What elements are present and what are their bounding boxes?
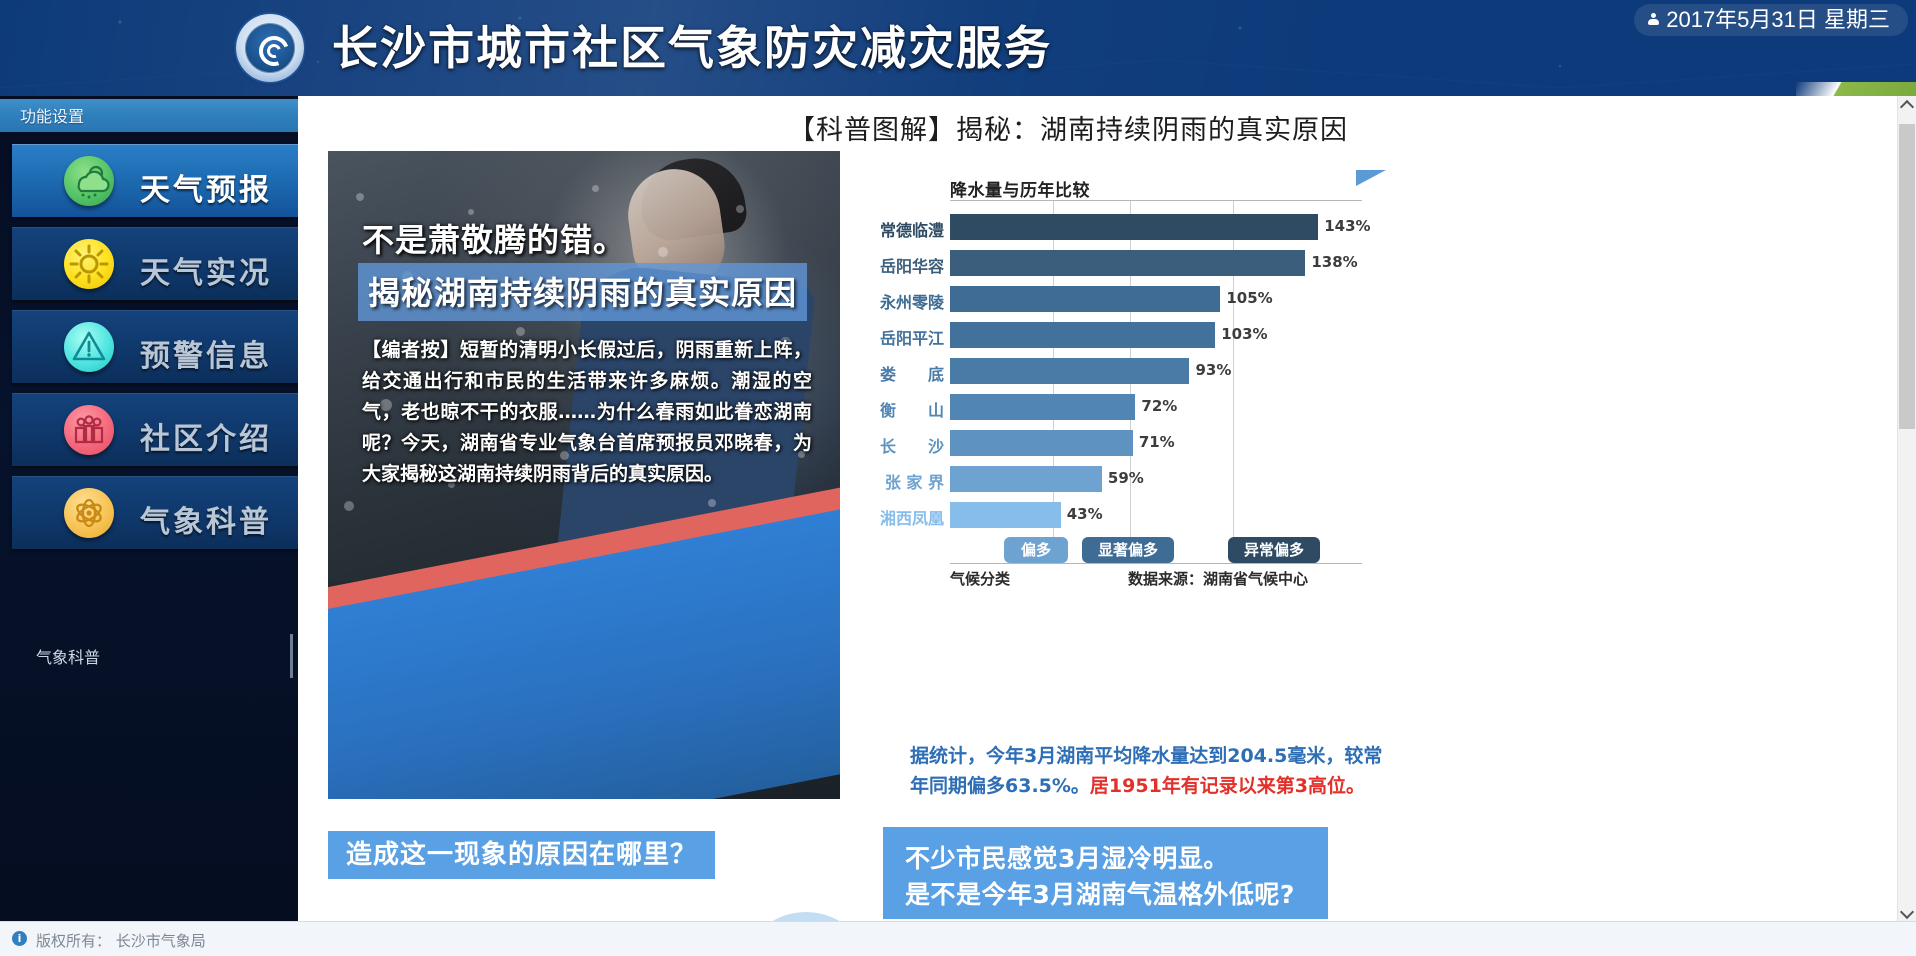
cloud-rain-icon xyxy=(64,156,114,206)
chart-legend-pill: 异常偏多 xyxy=(1228,537,1320,563)
chart-bar xyxy=(950,394,1135,420)
sidebar: 功能设置 天气预报 xyxy=(0,96,298,922)
chart-bar xyxy=(950,214,1318,240)
vertical-scrollbar[interactable] xyxy=(1897,96,1916,922)
app-header: 长沙市城市社区气象防灾减灾服务 2017年5月31日 星期三 xyxy=(0,0,1916,96)
copyright-text: 版权所有： 长沙市气象局 xyxy=(36,930,206,951)
chart-bar xyxy=(950,430,1133,456)
content-area: 【科普图解】揭秘：湖南持续阴雨的真实原因 xyxy=(298,96,1898,922)
chart-bar xyxy=(950,358,1189,384)
chart-bar-row: 长 沙71% xyxy=(950,425,1362,461)
sidebar-nav: 天气预报 天气实况 xyxy=(12,144,298,559)
chart-category-label: 岳阳华容 xyxy=(858,253,944,277)
poster-headline-2: 揭秘湖南持续阴雨的真实原因 xyxy=(358,263,807,321)
chart-bar-row: 常德临澧143% xyxy=(950,209,1362,245)
warning-triangle-icon xyxy=(64,322,114,372)
chart-category-label: 张 家 界 xyxy=(858,469,944,493)
chart-bar xyxy=(950,502,1061,528)
chart-value-label: 59% xyxy=(1108,469,1144,487)
sidebar-item-community-intro[interactable]: 社区介绍 xyxy=(12,393,298,466)
chart-source: 数据来源：湖南省气候中心 xyxy=(1128,568,1308,589)
logo-inner-disc xyxy=(245,23,295,73)
sidebar-scroll-indicator[interactable] xyxy=(290,634,293,678)
chart-bar-row: 衡 山72% xyxy=(950,389,1362,425)
application-window: 长沙市城市社区气象防灾减灾服务 2017年5月31日 星期三 功能设置 xyxy=(0,0,1916,956)
chart-plot-area: 常德临澧143%岳阳华容138%永州零陵105%岳阳平江103%娄 底93%衡 … xyxy=(950,200,1362,564)
chart-category-label: 长 沙 xyxy=(858,433,944,457)
chart-value-label: 138% xyxy=(1311,253,1357,271)
sidebar-item-weather-live[interactable]: 天气实况 xyxy=(12,227,298,300)
chart-value-label: 103% xyxy=(1221,325,1267,343)
section-heading-right: 不少市民感觉3月湿冷明显。 是不是今年3月湖南气温格外低呢? xyxy=(883,827,1328,919)
poster-headline-1: 不是萧敬腾的错。 xyxy=(362,215,626,261)
date-display: 2017年5月31日 星期三 xyxy=(1634,4,1908,36)
chart-bar-row: 岳阳华容138% xyxy=(950,245,1362,281)
chart-category-label: 湘西凤凰 xyxy=(858,505,944,529)
chart-category-label: 永州零陵 xyxy=(858,289,944,313)
people-group-icon xyxy=(64,405,114,455)
sidebar-item-label: 气象科普 xyxy=(140,497,272,541)
article-title: 【科普图解】揭秘：湖南持续阴雨的真实原因 xyxy=(298,108,1838,147)
scroll-down-button[interactable] xyxy=(1898,904,1916,922)
sidebar-item-label: 天气实况 xyxy=(140,248,272,292)
sidebar-item-warning-info[interactable]: 预警信息 xyxy=(12,310,298,383)
chart-value-label: 71% xyxy=(1139,433,1175,451)
chart-category-label: 常德临澧 xyxy=(858,217,944,241)
section-heading-right-line1: 不少市民感觉3月湿冷明显。 xyxy=(905,841,1328,877)
poster-lead-paragraph: 【编者按】短暂的清明小长假过后，阴雨重新上阵，给交通出行和市民的生活带来许多麻烦… xyxy=(362,335,812,490)
scroll-up-button[interactable] xyxy=(1898,96,1916,114)
chart-bar-row: 湘西凤凰43% xyxy=(950,497,1362,533)
section-heading-left: 造成这一现象的原因在哪里？ xyxy=(328,831,715,879)
article-poster: 不是萧敬腾的错。 揭秘湖南持续阴雨的真实原因 【编者按】短暂的清明小长假过后，阴… xyxy=(328,151,840,799)
chart-value-label: 105% xyxy=(1226,289,1272,307)
chart-category-label: 衡 山 xyxy=(858,397,944,421)
scrollbar-thumb[interactable] xyxy=(1899,124,1915,429)
chart-xlabel: 气候分类 xyxy=(950,568,1010,589)
chart-corner-flag-icon xyxy=(1356,170,1386,186)
statistics-paragraph: 据统计，今年3月湖南平均降水量达到204.5毫米，较常年同期偏多63.5%。居1… xyxy=(910,741,1400,801)
page-title: 长沙市城市社区气象防灾减灾服务 xyxy=(332,14,1052,82)
chart-bar-row: 娄 底93% xyxy=(950,353,1362,389)
chart-bar-row: 岳阳平江103% xyxy=(950,317,1362,353)
sidebar-item-meteorology-science[interactable]: 气象科普 xyxy=(12,476,298,549)
user-icon xyxy=(1648,13,1659,26)
sidebar-item-weather-forecast[interactable]: 天气预报 xyxy=(12,144,298,217)
precipitation-comparison-chart: 降水量与历年比较 常德临澧143%岳阳华容138%永州零陵105%岳阳平江103… xyxy=(858,168,1398,648)
chart-category-label: 岳阳平江 xyxy=(858,325,944,349)
chart-bar xyxy=(950,466,1102,492)
mountain-sunrise-illustration xyxy=(636,908,976,922)
header-corner-accent xyxy=(1796,82,1916,96)
chart-bar xyxy=(950,322,1215,348)
chart-value-label: 72% xyxy=(1141,397,1177,415)
chart-legend-pill: 偏多 xyxy=(1004,537,1068,563)
statistics-text-highlight: 居1951年有记录以来第3高位。 xyxy=(1090,775,1365,797)
app-footer: i 版权所有： 长沙市气象局 xyxy=(0,921,1916,956)
chart-bar-row: 张 家 界59% xyxy=(950,461,1362,497)
date-text: 2017年5月31日 星期三 xyxy=(1666,7,1890,32)
china-meteorological-administration-logo xyxy=(236,14,304,82)
chart-legend-pill: 显著偏多 xyxy=(1082,537,1174,563)
sidebar-item-label: 预警信息 xyxy=(140,331,272,375)
chart-bar-row: 永州零陵105% xyxy=(950,281,1362,317)
chart-value-label: 93% xyxy=(1195,361,1231,379)
sidebar-item-label: 社区介绍 xyxy=(140,414,272,458)
chevron-down-icon xyxy=(1900,905,1914,919)
chevron-up-icon xyxy=(1900,100,1914,114)
chart-bar xyxy=(950,250,1305,276)
info-icon: i xyxy=(12,931,27,946)
logo-swirl-icon xyxy=(254,31,294,71)
chart-bar xyxy=(950,286,1220,312)
chart-category-label: 娄 底 xyxy=(858,361,944,385)
sidebar-sub-label: 气象科普 xyxy=(36,644,100,668)
sun-icon xyxy=(64,239,114,289)
atom-icon xyxy=(64,488,114,538)
sidebar-item-label: 天气预报 xyxy=(140,165,272,209)
sidebar-section-label: 功能设置 xyxy=(20,103,84,127)
chart-value-label: 143% xyxy=(1324,217,1370,235)
chart-title: 降水量与历年比较 xyxy=(950,176,1090,201)
chart-value-label: 43% xyxy=(1067,505,1103,523)
